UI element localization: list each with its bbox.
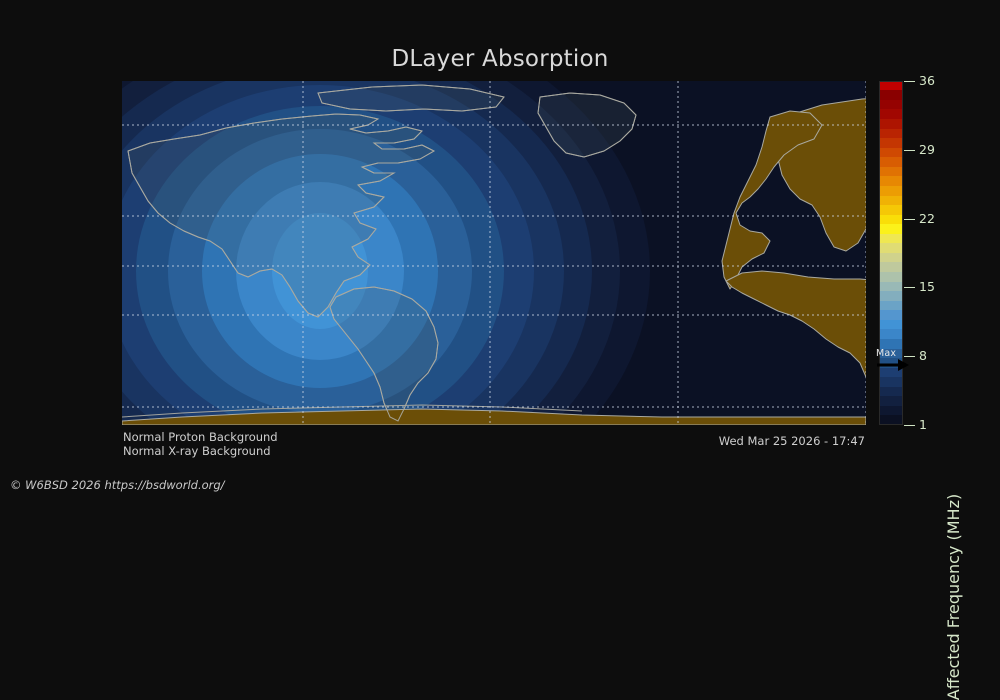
colorbar-band-23 (879, 196, 903, 206)
colorbar-band-26 (879, 167, 903, 177)
colorbar-tick-label-8: 8 (919, 350, 927, 363)
colorbar-band-4 (879, 377, 903, 387)
colorbar-band-2 (879, 396, 903, 406)
colorbar-tick-15 (904, 287, 915, 288)
colorbar-band-11 (879, 310, 903, 320)
colorbar-tick-label-36: 36 (919, 75, 935, 88)
colorbar-band-16 (879, 262, 903, 272)
colorbar-tick-36 (904, 81, 915, 82)
page-title: DLayer Absorption (0, 46, 1000, 72)
xray-background-status: Normal X-ray Background (123, 444, 271, 458)
proton-background-status: Normal Proton Background (123, 430, 278, 444)
colorbar-band-18 (879, 243, 903, 253)
copyright-notice: © W6BSD 2026 https://bsdworld.org/ (10, 478, 225, 492)
colorbar-tick-22 (904, 219, 915, 220)
colorbar-band-25 (879, 176, 903, 186)
colorbar-band-34 (879, 90, 903, 100)
colorbar-band-32 (879, 109, 903, 119)
colorbar-band-30 (879, 129, 903, 139)
colorbar-band-10 (879, 320, 903, 330)
colorbar-band-27 (879, 157, 903, 167)
colorbar-band-17 (879, 253, 903, 263)
colorbar-band-19 (879, 234, 903, 244)
colorbar-band-9 (879, 329, 903, 339)
colorbar-band-20 (879, 224, 903, 234)
colorbar-tick-label-22: 22 (919, 212, 935, 225)
colorbar-band-24 (879, 186, 903, 196)
colorbar-tick-label-29: 29 (919, 144, 935, 157)
colorbar-band-3 (879, 387, 903, 397)
colorbar-band-22 (879, 205, 903, 215)
colorbar-tick-29 (904, 150, 915, 151)
colorbar-band-28 (879, 148, 903, 158)
app-root: DLayer Absorption (0, 0, 1000, 500)
colorbar-tick-label-1: 1 (919, 419, 927, 432)
colorbar-max-marker: Max (876, 348, 910, 374)
timestamp: Wed Mar 25 2026 - 17:47 (719, 434, 865, 448)
colorbar-band-14 (879, 282, 903, 292)
world-map-panel[interactable] (122, 81, 866, 425)
colorbar-axis-label-holder: Affected Frequency (MHz) (944, 81, 968, 425)
colorbar-axis-label: Affected Frequency (MHz) (944, 494, 963, 700)
colorbar-tick-1 (904, 425, 915, 426)
colorbar-band-33 (879, 100, 903, 110)
colorbar-band-21 (879, 215, 903, 225)
colorbar-band-0 (879, 415, 903, 425)
colorbar-band-13 (879, 291, 903, 301)
arrow-right-icon (876, 358, 910, 372)
colorbar-band-31 (879, 119, 903, 129)
colorbar-band-35 (879, 81, 903, 91)
world-map[interactable] (122, 81, 866, 425)
colorbar-tick-label-15: 15 (919, 281, 935, 294)
colorbar-band-12 (879, 301, 903, 311)
colorbar-band-29 (879, 138, 903, 148)
colorbar-band-15 (879, 272, 903, 282)
colorbar-band-1 (879, 406, 903, 416)
